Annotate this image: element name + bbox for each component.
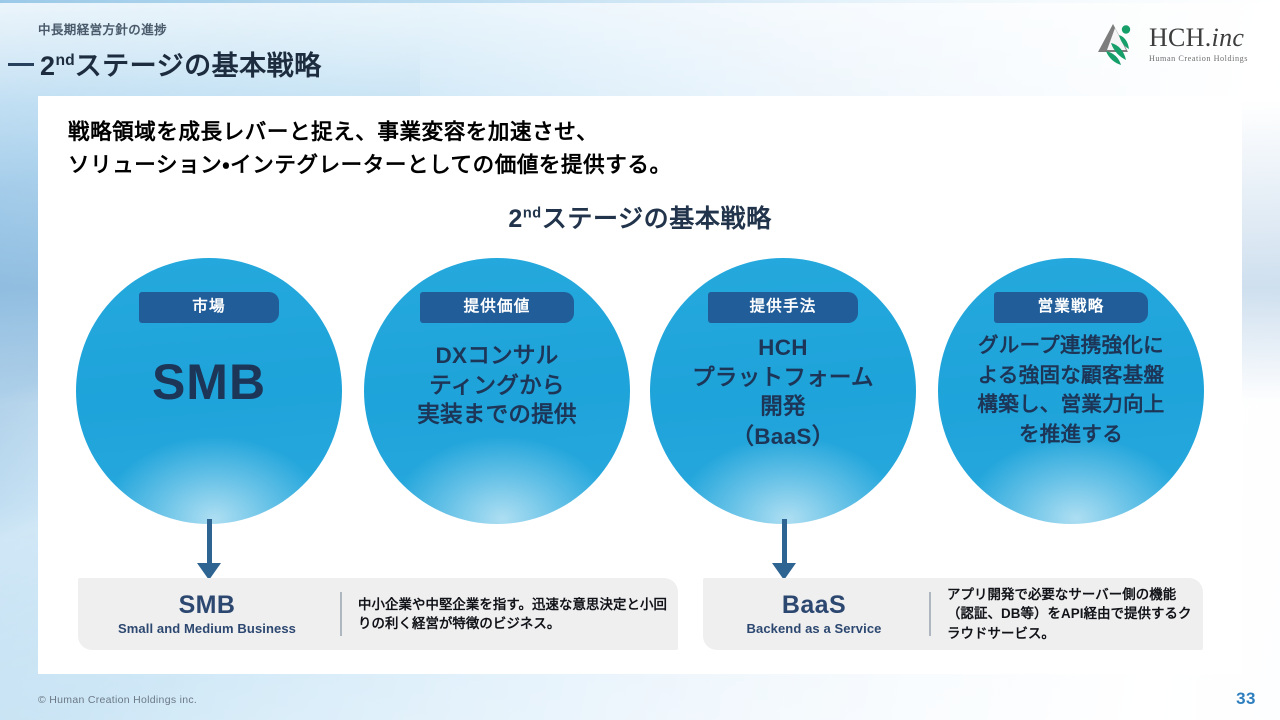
strategy-circle-sales: 営業戦略 グループ連携強化に よる強固な顧客基盤 構築し、営業力向上 を推進する [938,258,1204,524]
page-title: 2ndステージの基本戦略 [40,44,322,83]
definition-divider [340,592,342,636]
circle-badge-label: 提供手法 [708,292,858,323]
logo-tagline: Human Creation Holdings [1149,55,1248,63]
page-title-prefix: 2 [40,51,56,81]
strategy-circle-market: 市場 SMB [76,258,342,524]
circle-body-line: DXコンサル [381,341,613,371]
strategy-circle-group: 市場 SMB 提供価値 DXコンサル ティングから 実装までの提供 提供手法 [60,258,1230,526]
definition-term: BaaS Backend as a Service [703,592,925,636]
circle-body-line: 実装までの提供 [381,400,613,430]
definition-description: 中小企業や中堅企業を指す。迅速な意思決定と小回りの利く経営が特徴のビジネス。 [358,595,678,634]
slide-root: 中長期経営方針の進捗 2ndステージの基本戦略 HCH.inc Human Cr… [0,0,1280,720]
circle-badge-label: 営業戦略 [994,292,1148,323]
circle-badge-label: 提供価値 [420,292,574,323]
circle-body-line: SMB [93,349,325,415]
circle-body-text: グループ連携強化に よる強固な顧客基盤 構築し、営業力向上 を推進する [955,331,1187,450]
title-accent-rule [8,63,34,66]
arrow-down-icon-smb [197,519,221,580]
definition-divider [929,592,931,636]
arrow-shaft [207,519,212,563]
section-heading-rest: ステージの基本戦略 [542,205,772,233]
hch-mountain-logo-icon [1095,22,1141,66]
circle-body-line: よる強固な顧客基盤 [955,361,1187,391]
logo-text: HCH.inc Human Creation Holdings [1149,25,1248,63]
page-title-ordinal-suffix: nd [56,52,75,69]
circle-body-line: プラットフォーム [667,363,899,393]
strategy-circle-value: 提供価値 DXコンサル ティングから 実装までの提供 [364,258,630,524]
definition-description: アプリ開発で必要なサーバー側の機能（認証、DB等）をAPI経由で提供するクラウド… [947,585,1203,643]
circle-body-line: 構築し、営業力向上 [955,390,1187,420]
lead-line-1: 戦略領域を成長レバーと捉え、事業変容を加速させ、 [68,116,672,149]
circle-body-text: DXコンサル ティングから 実装までの提供 [381,341,613,430]
circle-body-text: SMB [93,349,325,415]
circle-body-line: ティングから [381,371,613,401]
definition-full-form: Backend as a Service [703,621,925,636]
circle-body-line: HCH [667,333,899,363]
definition-box-baas: BaaS Backend as a Service アプリ開発で必要なサーバー側… [703,578,1203,650]
background-top-accent-line [0,0,1280,3]
arrow-shaft [782,519,787,563]
definition-full-form: Small and Medium Business [78,621,336,636]
circle-shape: 提供手法 HCH プラットフォーム 開発 （BaaS） [650,258,916,524]
section-heading-ordinal-suffix: nd [523,206,542,222]
circle-body-line: （BaaS） [667,422,899,452]
company-logo: HCH.inc Human Creation Holdings [1095,22,1248,66]
circle-body-line: を推進する [955,420,1187,450]
definition-abbreviation: BaaS [703,592,925,618]
circle-shape: 提供価値 DXコンサル ティングから 実装までの提供 [364,258,630,524]
slide-kicker: 中長期経営方針の進捗 [38,19,167,38]
arrow-down-icon-baas [772,519,796,580]
circle-body-line: 開発 [667,392,899,422]
logo-wordmark-italic: inc [1212,23,1245,52]
definition-term: SMB Small and Medium Business [78,592,336,636]
logo-wordmark-primary: HCH. [1149,23,1212,52]
definition-box-smb: SMB Small and Medium Business 中小企業や中堅企業を… [78,578,678,650]
lead-line-2: ソリューション・インテグレーターとしての価値を提供する。 [68,149,672,182]
circle-shape: 市場 SMB [76,258,342,524]
circle-body-line: グループ連携強化に [955,331,1187,361]
circle-body-text: HCH プラットフォーム 開発 （BaaS） [667,333,899,452]
page-title-rest: ステージの基本戦略 [75,51,322,81]
page-number: 33 [1236,689,1256,709]
definition-abbreviation: SMB [78,592,336,618]
lead-statement: 戦略領域を成長レバーと捉え、事業変容を加速させ、 ソリューション・インテグレータ… [68,116,672,181]
section-heading: 2ndステージの基本戦略 [0,199,1280,235]
logo-wordmark: HCH.inc [1149,25,1248,51]
section-heading-prefix: 2 [508,205,523,233]
footer-copyright: © Human Creation Holdings inc. [38,694,197,706]
strategy-circle-method: 提供手法 HCH プラットフォーム 開発 （BaaS） [650,258,916,524]
circle-shape: 営業戦略 グループ連携強化に よる強固な顧客基盤 構築し、営業力向上 を推進する [938,258,1204,524]
circle-badge-label: 市場 [139,292,279,323]
